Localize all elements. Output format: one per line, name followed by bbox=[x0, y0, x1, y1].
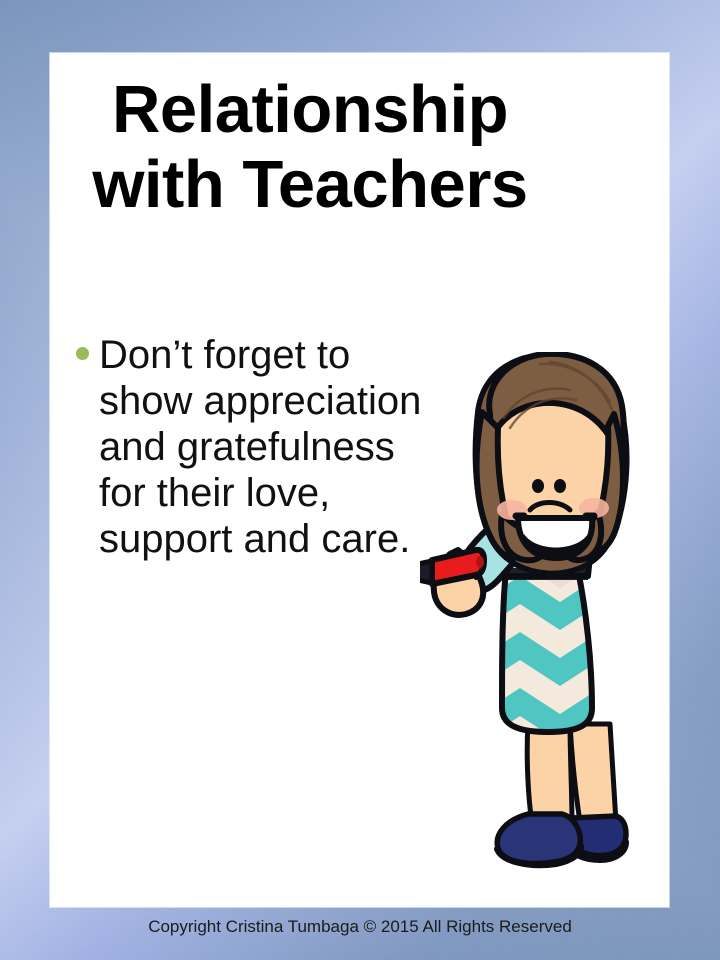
marker-tip bbox=[420, 561, 432, 583]
teacher-illustration bbox=[420, 352, 682, 894]
bullet-list: Don’t forget to show appreciation and gr… bbox=[76, 332, 436, 562]
leg-back bbox=[570, 724, 616, 822]
leg-front bbox=[527, 722, 572, 824]
eye-right bbox=[554, 479, 566, 493]
bullet-point-marker bbox=[76, 347, 89, 360]
shoe-front bbox=[497, 814, 580, 863]
eye-left bbox=[532, 479, 544, 493]
page-title: Relationship with Teachers bbox=[52, 72, 568, 222]
copyright-footer: Copyright Cristina Tumbaga © 2015 All Ri… bbox=[0, 917, 720, 937]
slide-canvas: Relationship with Teachers Don’t forget … bbox=[0, 0, 720, 960]
bullet-item-text: Don’t forget to show appreciation and gr… bbox=[99, 332, 436, 562]
